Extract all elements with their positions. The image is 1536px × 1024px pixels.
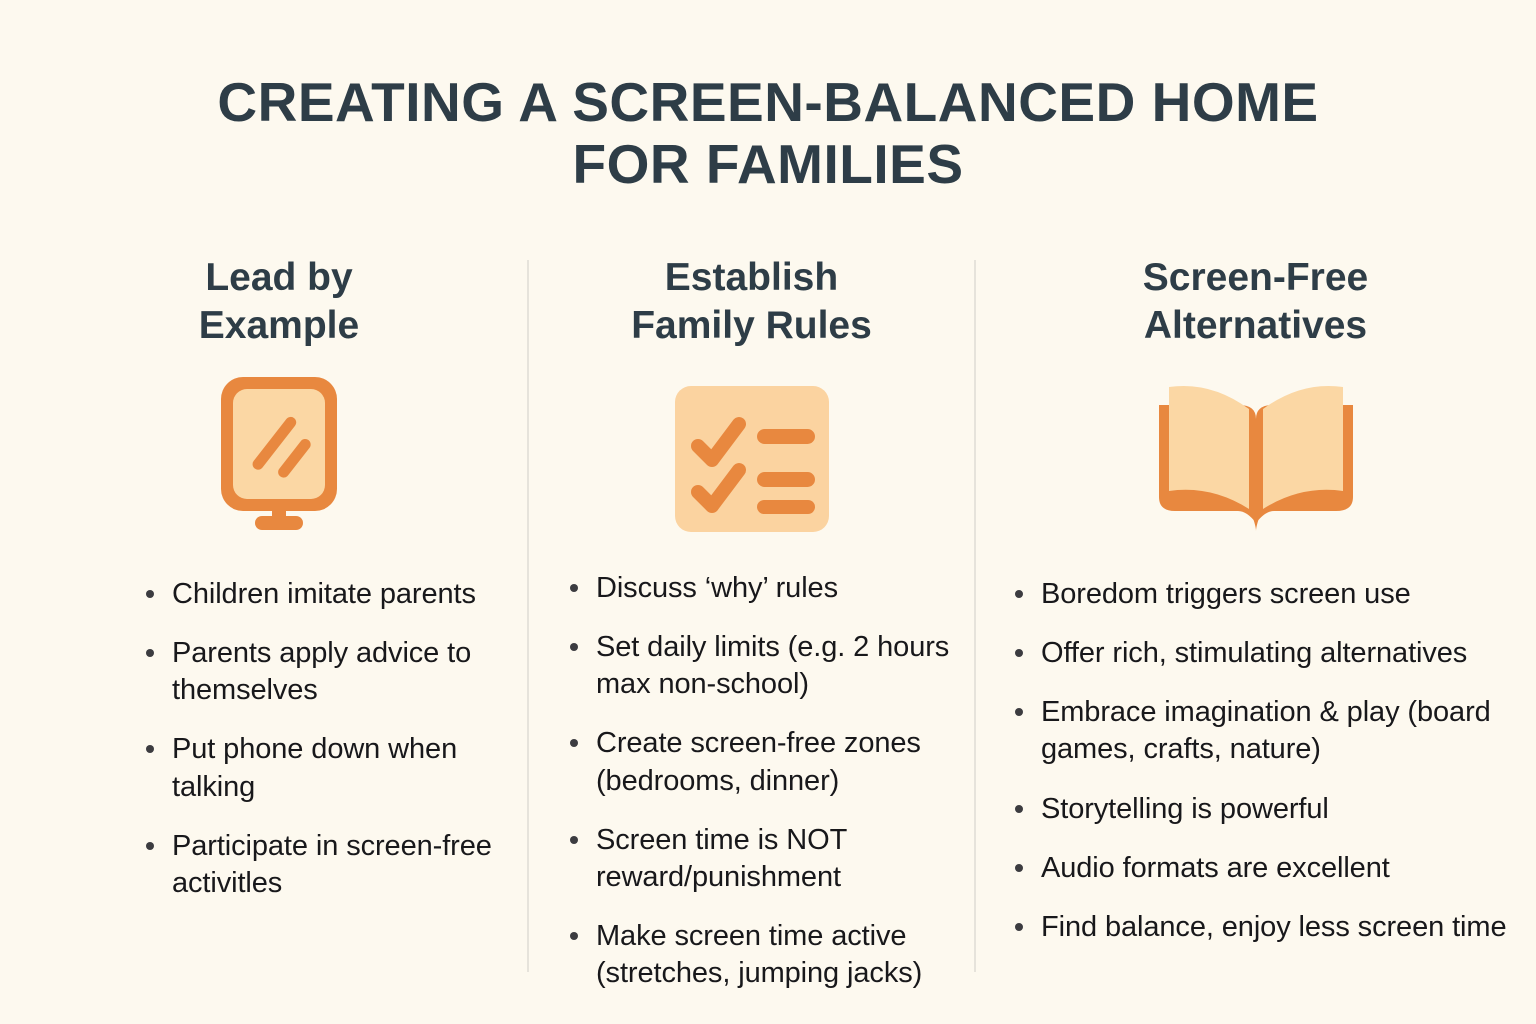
column-2-heading-line-2: Family Rules: [528, 302, 975, 350]
checklist-icon: [673, 384, 831, 534]
column-3-heading-line-1: Screen-Free: [975, 254, 1536, 302]
title-block: CREATING A SCREEN-BALANCED HOME FOR FAMI…: [0, 0, 1536, 195]
list-item: Find balance, enjoy less screen time: [1011, 909, 1536, 946]
list-item: Create screen-free zones (bedrooms, dinn…: [566, 725, 975, 799]
page-title-line-2: FOR FAMILIES: [203, 134, 1333, 196]
list-item: Set daily limits (e.g. 2 hours max non-s…: [566, 629, 975, 703]
mirror-icon: [203, 373, 355, 545]
infographic-poster: CREATING A SCREEN-BALANCED HOME FOR FAMI…: [0, 0, 1536, 1024]
list-item: Audio formats are excellent: [1011, 850, 1536, 887]
column-2-heading-line-1: Establish: [528, 254, 975, 302]
columns-container: Lead by Example Children imitate pare: [0, 246, 1536, 986]
column-2-bullet-list: Discuss ‘why’ rules Set daily limits (e.…: [528, 570, 975, 992]
list-item: Participate in screen-free activitles: [142, 828, 528, 902]
open-book-icon: [1145, 379, 1367, 539]
column-lead-by-example: Lead by Example Children imitate pare: [0, 246, 528, 986]
list-item: Offer rich, stimulating alternatives: [1011, 635, 1536, 672]
column-1-heading: Lead by Example: [30, 246, 528, 349]
column-1-heading-line-1: Lead by: [30, 254, 528, 302]
column-1-icon-wrap: [30, 371, 528, 546]
column-screen-free-alternatives: Screen-Free Alternatives Boredom trig: [975, 246, 1536, 986]
list-item: Make screen time active (stretches, jump…: [566, 918, 975, 992]
list-item: Put phone down when talking: [142, 731, 528, 805]
page-title-line-1: CREATING A SCREEN-BALANCED HOME: [203, 72, 1333, 134]
list-item: Screen time is NOT reward/punishment: [566, 822, 975, 896]
column-3-heading-line-2: Alternatives: [975, 302, 1536, 350]
list-item: Boredom triggers screen use: [1011, 576, 1536, 613]
column-2-heading: Establish Family Rules: [528, 246, 975, 349]
column-establish-family-rules: Establish Family Rules Discuss ‘why’: [528, 246, 975, 986]
list-item: Discuss ‘why’ rules: [566, 570, 975, 607]
column-3-bullet-list: Boredom triggers screen use Offer rich, …: [975, 576, 1536, 946]
list-item: Storytelling is powerful: [1011, 791, 1536, 828]
list-item: Children imitate parents: [142, 576, 528, 613]
list-item: Parents apply advice to themselves: [142, 635, 528, 709]
column-1-heading-line-2: Example: [30, 302, 528, 350]
column-1-bullet-list: Children imitate parents Parents apply a…: [30, 576, 528, 902]
column-2-icon-wrap: [528, 371, 975, 546]
column-3-icon-wrap: [975, 371, 1536, 546]
column-3-heading: Screen-Free Alternatives: [975, 246, 1536, 349]
page-title: CREATING A SCREEN-BALANCED HOME FOR FAMI…: [203, 72, 1333, 195]
list-item: Embrace imagination & play (board games,…: [1011, 694, 1536, 768]
